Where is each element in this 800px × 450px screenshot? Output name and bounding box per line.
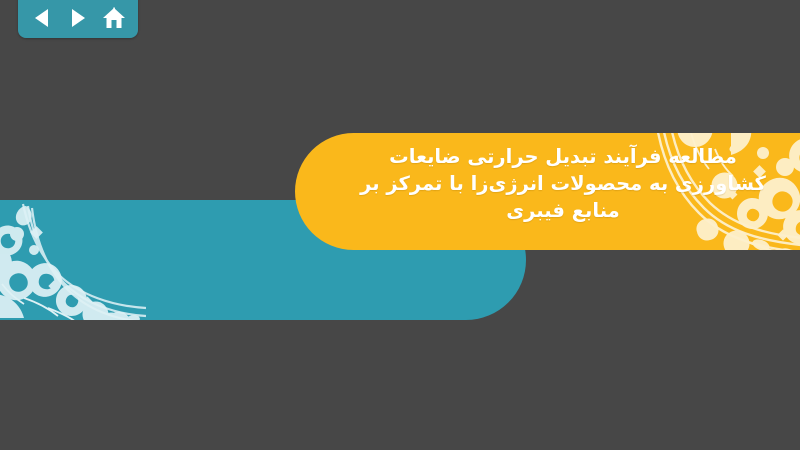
presentation-slide: مطالعه فرآیند تبدیل حرارتی ضایعات کشاورز… bbox=[0, 0, 800, 450]
slide-title: مطالعه فرآیند تبدیل حرارتی ضایعات کشاورز… bbox=[348, 143, 778, 224]
title-line-3: منابع فیبری bbox=[348, 197, 778, 224]
home-icon bbox=[102, 7, 126, 29]
title-line-1: مطالعه فرآیند تبدیل حرارتی ضایعات bbox=[348, 143, 778, 170]
previous-button[interactable] bbox=[27, 5, 57, 31]
next-button[interactable] bbox=[63, 5, 93, 31]
home-button[interactable] bbox=[99, 5, 129, 31]
forward-triangle-icon bbox=[69, 8, 87, 28]
navigation-toolbar bbox=[18, 0, 138, 38]
title-line-2: کشاورزی به محصولات انرژی‌زا با تمرکز بر bbox=[348, 170, 778, 197]
teal-arabesque-ornament-icon bbox=[0, 200, 146, 320]
back-triangle-icon bbox=[33, 8, 51, 28]
